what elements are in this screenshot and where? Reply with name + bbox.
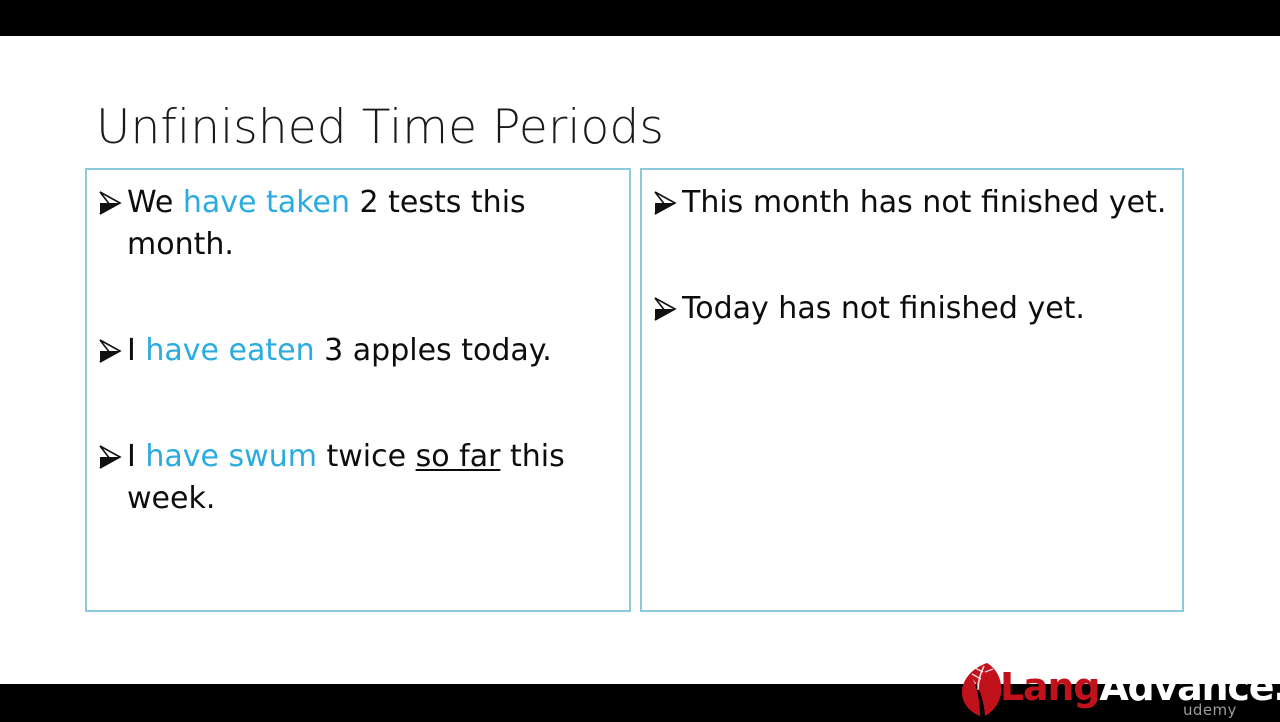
bullet-list-right: This month has not finished yet.Today ha… [642, 170, 1182, 330]
brand-name-first: Lang [1000, 665, 1099, 709]
brand-wordmark: LangAdvance.com [1000, 666, 1280, 708]
slide-canvas: Unfinished Time Periods We have taken 2 … [0, 36, 1280, 684]
bullet-item: We have taken 2 tests this month. [97, 182, 619, 266]
bullet-text-run: We [127, 185, 183, 220]
arrow-bullet-icon [97, 436, 125, 478]
bullet-item: I have eaten 3 apples today. [97, 330, 619, 372]
page-title: Unfinished Time Periods [96, 100, 664, 156]
bullet-text-run: twice [317, 439, 416, 474]
bullet-list-left: We have taken 2 tests this month.I have … [87, 170, 629, 520]
bullet-highlight-verb: have taken [183, 185, 350, 220]
bullet-text-run: I [127, 333, 145, 368]
bullet-text: Today has not finished yet. [682, 291, 1085, 326]
content-box-right: This month has not finished yet.Today ha… [640, 168, 1184, 612]
bullet-underlined-phrase: so far [416, 439, 501, 474]
bullet-text-run: This month has not finished yet. [682, 185, 1166, 220]
slide-root: Unfinished Time Periods We have taken 2 … [0, 0, 1280, 720]
bullet-text: This month has not finished yet. [682, 185, 1166, 220]
arrow-bullet-icon [97, 182, 125, 224]
bullet-text-run: I [127, 439, 145, 474]
brand-logo: LangAdvance.com udemy [948, 658, 1280, 720]
arrow-bullet-icon [97, 330, 125, 372]
letterbox-top-bar [0, 0, 1280, 36]
bullet-text: I have swum twice so far this week. [127, 439, 565, 516]
bullet-highlight-verb: have swum [145, 439, 317, 474]
bullet-text-run: 3 apples today. [315, 333, 552, 368]
arrow-bullet-icon [652, 288, 680, 330]
bullet-text: I have eaten 3 apples today. [127, 333, 552, 368]
arrow-bullet-icon [652, 182, 680, 224]
bullet-text: We have taken 2 tests this month. [127, 185, 526, 262]
bullet-item: This month has not finished yet. [652, 182, 1172, 224]
bullet-item: I have swum twice so far this week. [97, 436, 619, 520]
bullet-highlight-verb: have eaten [145, 333, 314, 368]
brand-subtext: udemy [1183, 701, 1237, 719]
bullet-item: Today has not finished yet. [652, 288, 1172, 330]
bullet-text-run: Today has not finished yet. [682, 291, 1085, 326]
content-box-left: We have taken 2 tests this month.I have … [85, 168, 631, 612]
